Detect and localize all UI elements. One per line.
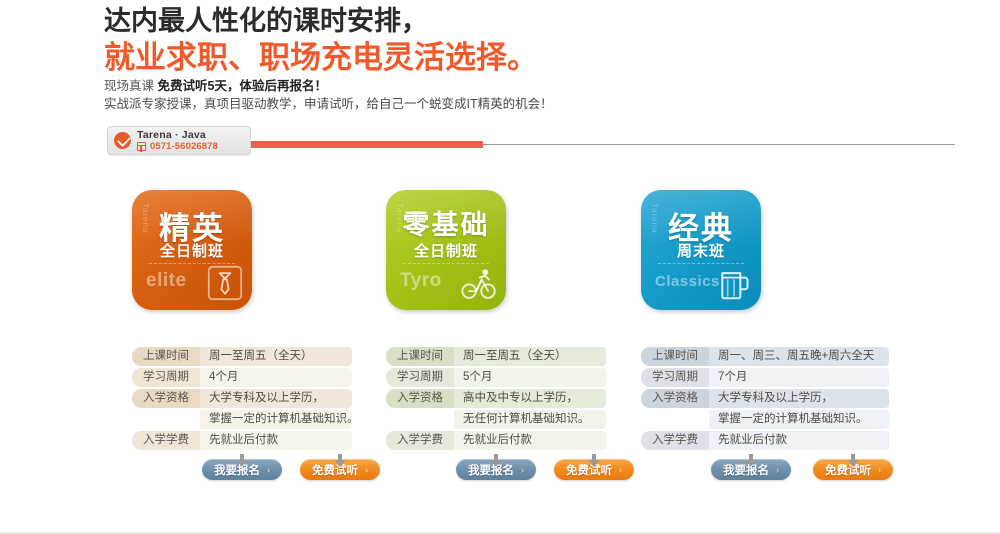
spec-label: 入学学费 bbox=[641, 431, 709, 450]
tarena-check-icon bbox=[114, 132, 131, 149]
course-tile-tyro[interactable]: Tarena 零基础 全日制班 Tyro bbox=[386, 190, 506, 310]
spec-value: 无任何计算机基础知识。 bbox=[454, 410, 606, 429]
table-row: 学习周期 7个月 bbox=[641, 368, 889, 387]
spec-value: 周一、周三、周五晚+周六全天 bbox=[709, 347, 889, 366]
subhead-strong: 免费试听5天，体验后再报名！ bbox=[158, 79, 327, 93]
spec-table-tyro: 上课时间 周一至周五（全天） 学习周期 5个月 入学资格 高中及中专以上学历， … bbox=[386, 347, 606, 452]
chevron-right-icon: › bbox=[776, 465, 779, 475]
spec-label: 学习周期 bbox=[386, 368, 454, 387]
course-tile-elite[interactable]: Tarena 精英 全日制班 elite bbox=[132, 190, 252, 310]
spec-label: 入学学费 bbox=[386, 431, 454, 450]
spec-value: 5个月 bbox=[454, 368, 606, 387]
course-column-elite: Tarena 精英 全日制班 elite 上课时间 周一至周五（全天） 学习周期… bbox=[132, 190, 252, 310]
table-row: 入学学费 先就业后付款 bbox=[641, 431, 889, 450]
spec-table-classics: 上课时间 周一、周三、周五晚+周六全天 学习周期 7个月 入学资格 大学专科及以… bbox=[641, 347, 889, 452]
spec-label: 上课时间 bbox=[386, 347, 454, 366]
promo-page: 达内最人性化的课时安排， 就业求职、职场充电灵活选择。 现场真课 免费试听5天，… bbox=[0, 0, 1000, 534]
spec-value: 7个月 bbox=[709, 368, 889, 387]
necktie-icon bbox=[207, 265, 243, 301]
calendar-icon bbox=[137, 142, 146, 151]
tile-title: 零基础 bbox=[386, 203, 506, 242]
spec-label bbox=[641, 410, 709, 429]
table-row: 掌握一定的计算机基础知识。 bbox=[641, 410, 889, 429]
spec-value: 掌握一定的计算机基础知识。 bbox=[709, 410, 889, 429]
tile-english-label: Tyro bbox=[400, 270, 442, 292]
table-row: 上课时间 周一至周五（全天） bbox=[132, 347, 352, 366]
tile-subtitle: 周末班 bbox=[641, 240, 761, 261]
subhead-line-1: 现场真课 免费试听5天，体验后再报名！ bbox=[104, 78, 327, 94]
badge-phone: 0571-56026878 bbox=[150, 142, 218, 152]
table-row: 上课时间 周一、周三、周五晚+周六全天 bbox=[641, 347, 889, 366]
cta-trial-elite: 免费试听 › bbox=[300, 454, 380, 480]
spec-value: 大学专科及以上学历， bbox=[709, 389, 889, 408]
chevron-right-icon: › bbox=[521, 465, 524, 475]
cta-signup-tyro: 我要报名 › bbox=[456, 454, 536, 480]
headline-secondary: 就业求职、职场充电灵活选择。 bbox=[104, 39, 538, 77]
spec-label: 学习周期 bbox=[641, 368, 709, 387]
badge-text-block: Tarena · Java 0571-56026878 bbox=[137, 130, 218, 152]
tile-english-label: elite bbox=[146, 270, 187, 292]
spec-table-elite: 上课时间 周一至周五（全天） 学习周期 4个月 入学资格 大学专科及以上学历， … bbox=[132, 347, 352, 452]
spec-label: 入学学费 bbox=[132, 431, 200, 450]
spec-label: 学习周期 bbox=[132, 368, 200, 387]
spec-value: 高中及中专以上学历， bbox=[454, 389, 606, 408]
subhead-line-2: 实战派专家授课，真项目驱动教学，申请试听，给自己一个蜕变成IT精英的机会！ bbox=[104, 96, 553, 112]
table-row: 掌握一定的计算机基础知识。 bbox=[132, 410, 352, 429]
spec-label: 入学资格 bbox=[641, 389, 709, 408]
tile-subtitle: 全日制班 bbox=[386, 240, 506, 261]
cta-group-tyro: 我要报名 › 免费试听 › bbox=[456, 454, 634, 480]
spec-label: 入学资格 bbox=[132, 389, 200, 408]
tile-divider bbox=[403, 263, 489, 264]
headline-block: 达内最人性化的课时安排， 就业求职、职场充电灵活选择。 bbox=[104, 4, 538, 77]
table-row: 入学资格 大学专科及以上学历， bbox=[641, 389, 889, 408]
tile-divider bbox=[658, 263, 744, 264]
spec-label bbox=[386, 410, 454, 429]
spec-value: 先就业后付款 bbox=[454, 431, 606, 450]
brand-badge[interactable]: Tarena · Java 0571-56026878 bbox=[107, 126, 251, 155]
cta-group-elite: 我要报名 › 免费试听 › bbox=[202, 454, 380, 480]
spec-value: 4个月 bbox=[200, 368, 352, 387]
tile-divider bbox=[149, 263, 235, 264]
chevron-right-icon: › bbox=[878, 465, 881, 475]
headline-primary: 达内最人性化的课时安排， bbox=[104, 4, 538, 38]
badge-phone-row: 0571-56026878 bbox=[137, 142, 218, 152]
table-row: 入学资格 大学专科及以上学历， bbox=[132, 389, 352, 408]
spec-value: 先就业后付款 bbox=[200, 431, 352, 450]
table-row: 上课时间 周一至周五（全天） bbox=[386, 347, 606, 366]
spec-label bbox=[132, 410, 200, 429]
accent-rule bbox=[243, 141, 483, 148]
cta-trial-classics: 免费试听 › bbox=[813, 454, 893, 480]
spec-value: 大学专科及以上学历， bbox=[200, 389, 352, 408]
table-row: 学习周期 5个月 bbox=[386, 368, 606, 387]
badge-title: Tarena · Java bbox=[137, 130, 218, 141]
cta-signup-classics: 我要报名 › bbox=[711, 454, 791, 480]
spec-value: 周一至周五（全天） bbox=[454, 347, 606, 366]
table-row: 无任何计算机基础知识。 bbox=[386, 410, 606, 429]
table-row: 入学资格 高中及中专以上学历， bbox=[386, 389, 606, 408]
chevron-right-icon: › bbox=[267, 465, 270, 475]
spec-value: 周一至周五（全天） bbox=[200, 347, 352, 366]
chevron-right-icon: › bbox=[619, 465, 622, 475]
course-tile-classics[interactable]: Tarena 经典 周末班 Classics bbox=[641, 190, 761, 310]
tile-english-label: Classics bbox=[655, 273, 720, 290]
subhead-lead: 现场真课 bbox=[104, 79, 154, 93]
table-row: 入学学费 先就业后付款 bbox=[132, 431, 352, 450]
course-column-classics: Tarena 经典 周末班 Classics 上课时间 周一、周三、周五晚+周六… bbox=[641, 190, 761, 310]
tile-subtitle: 全日制班 bbox=[132, 240, 252, 261]
spec-value: 先就业后付款 bbox=[709, 431, 889, 450]
cta-trial-tyro: 免费试听 › bbox=[554, 454, 634, 480]
beer-mug-icon bbox=[716, 265, 752, 301]
table-row: 入学学费 先就业后付款 bbox=[386, 431, 606, 450]
cta-group-classics: 我要报名 › 免费试听 › bbox=[711, 454, 893, 480]
chevron-right-icon: › bbox=[365, 465, 368, 475]
course-column-tyro: Tarena 零基础 全日制班 Tyro 上课时间 周一至周五（全天） bbox=[386, 190, 506, 310]
spec-label: 入学资格 bbox=[386, 389, 454, 408]
bicycle-icon bbox=[461, 265, 497, 301]
cta-signup-elite: 我要报名 › bbox=[202, 454, 282, 480]
spec-label: 上课时间 bbox=[132, 347, 200, 366]
table-row: 学习周期 4个月 bbox=[132, 368, 352, 387]
spec-value: 掌握一定的计算机基础知识。 bbox=[200, 410, 352, 429]
spec-label: 上课时间 bbox=[641, 347, 709, 366]
